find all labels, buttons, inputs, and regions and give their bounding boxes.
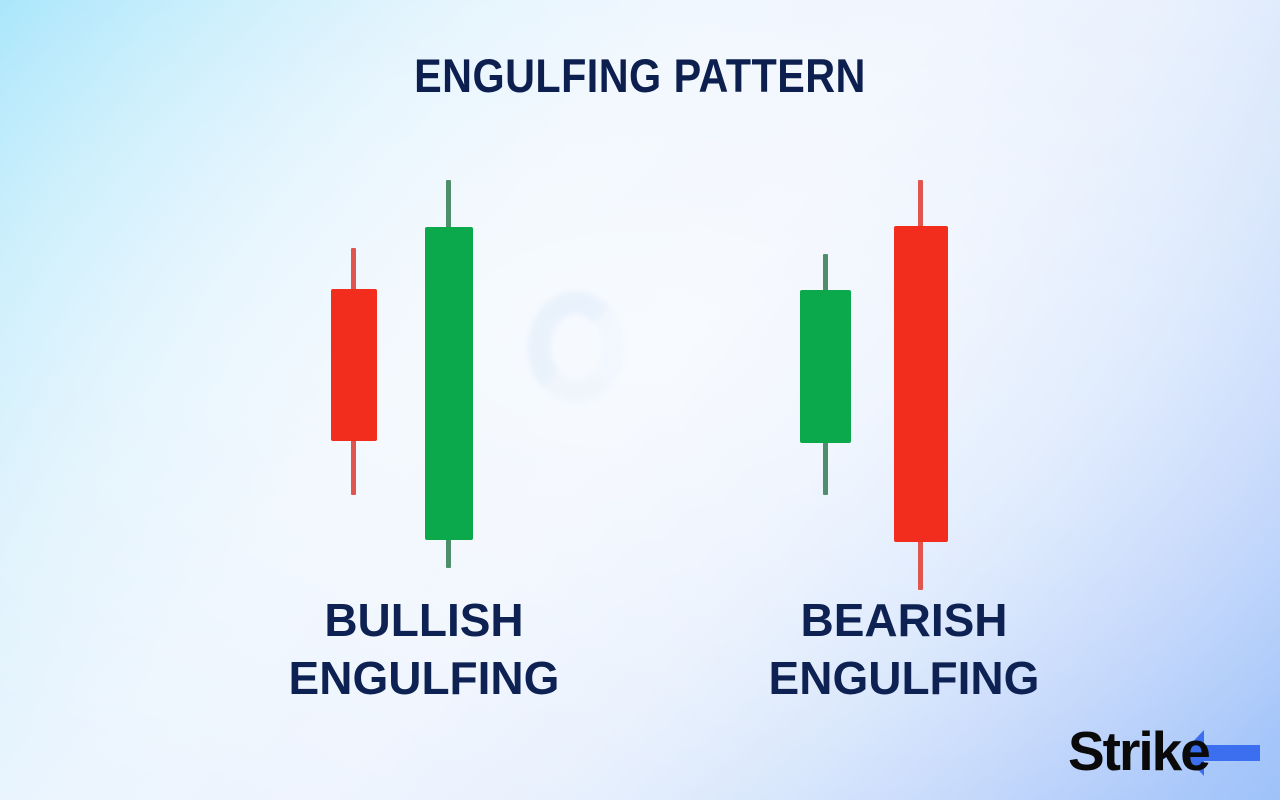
caption-bearish-engulfing: BEARISH ENGULFING xyxy=(674,591,1134,708)
candle-body-bearish xyxy=(331,289,377,441)
background-watermark-circle xyxy=(528,292,624,402)
page-title: ENGULFING PATTERN xyxy=(77,52,1203,99)
strike-logo: Strike xyxy=(1068,722,1264,784)
caption-bullish-engulfing: BULLISH ENGULFING xyxy=(194,591,654,708)
candle-body-bearish xyxy=(894,226,948,542)
candle-body-bullish xyxy=(425,227,473,540)
strike-logo-wordmark: Strike xyxy=(1068,720,1209,782)
infographic-canvas: ENGULFING PATTERN BULLISH ENGULFING BEAR… xyxy=(0,0,1280,800)
candle-body-bullish xyxy=(800,290,851,443)
